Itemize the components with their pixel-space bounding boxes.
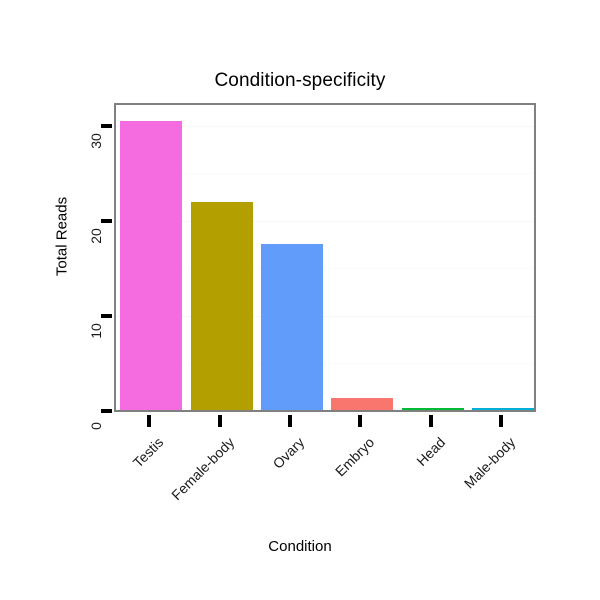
x-axis-tick-label: Ovary [154, 434, 307, 587]
y-axis-title: Total Reads [54, 157, 71, 317]
x-axis-tick-label: Female-body [84, 434, 237, 587]
bar-chart: Condition-specificity Total Reads Condit… [0, 0, 600, 600]
chart-title: Condition-specificity [0, 70, 600, 92]
bar [191, 202, 253, 411]
x-axis-title: Condition [0, 538, 600, 555]
y-axis-tick-label: 20 [88, 221, 104, 251]
bar [120, 121, 182, 410]
x-axis-tick [218, 415, 222, 427]
bar [331, 398, 393, 410]
x-axis-tick-label: Embryo [225, 434, 378, 587]
plot-panel [114, 103, 536, 412]
x-axis-tick-label: Testis [14, 434, 167, 587]
y-axis-tick-label: 10 [88, 316, 104, 346]
bar [472, 408, 534, 411]
x-axis-tick [358, 415, 362, 427]
x-axis-tick-label: Male-body [365, 434, 518, 587]
x-axis-tick [499, 415, 503, 427]
plot-panel-inner [116, 105, 534, 410]
bar [261, 244, 323, 410]
y-axis-tick-label: 30 [88, 126, 104, 156]
x-axis-tick [147, 415, 151, 427]
x-axis-tick [429, 415, 433, 427]
y-axis-tick-label: 0 [88, 411, 104, 441]
bar [402, 408, 464, 411]
x-axis-tick [288, 415, 292, 427]
x-axis-tick-label: Head [295, 434, 448, 587]
